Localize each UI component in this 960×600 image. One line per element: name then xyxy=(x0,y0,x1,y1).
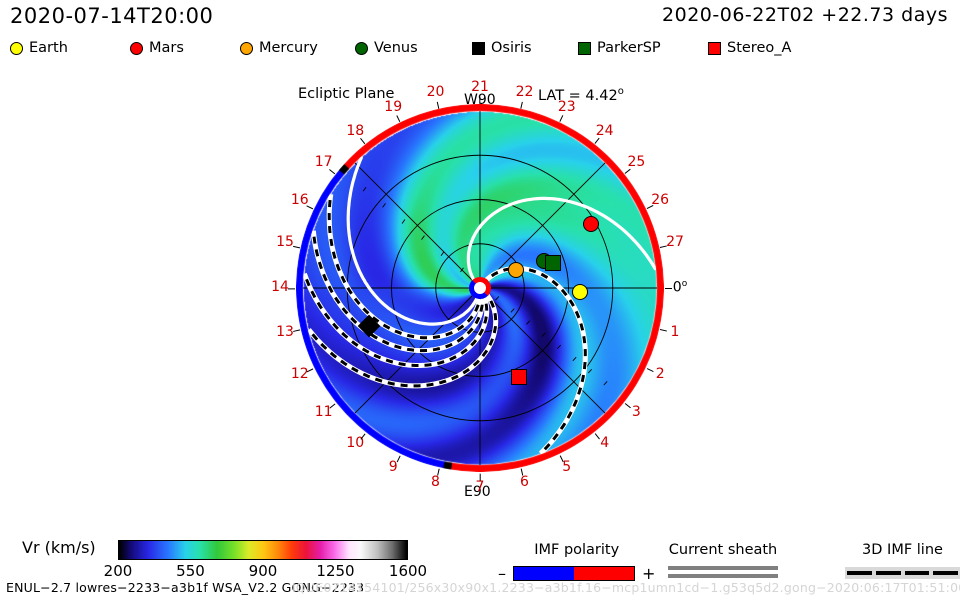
latitude-label: LAT = 4.42o xyxy=(538,86,624,104)
grid-spoke xyxy=(355,163,480,288)
legend-item-earth: Earth xyxy=(10,38,68,58)
longitude-tick-mark xyxy=(520,101,523,108)
degree-symbol: o xyxy=(682,279,688,289)
legend-item-mars: Mars xyxy=(130,38,184,58)
imf-dash xyxy=(876,571,901,575)
mars-circle-icon xyxy=(130,42,143,55)
current-sheath-title: Current sheath xyxy=(668,542,778,558)
legend-label: Earth xyxy=(29,40,68,56)
longitude-tick-6: 6 xyxy=(520,474,529,490)
negative-polarity-swatch xyxy=(514,567,574,580)
colorbar-tick: 200 xyxy=(104,562,133,580)
mesh-tick xyxy=(573,357,576,361)
parkersp-square-icon xyxy=(578,42,591,55)
velocity-colorbar xyxy=(118,540,408,560)
mesh-tick xyxy=(441,252,444,256)
legend-item-venus: Venus xyxy=(355,38,418,58)
longitude-tick-22: 22 xyxy=(516,84,534,100)
heliosphere-disc: 0o12345678910111213141516171819202122232… xyxy=(296,104,664,472)
stereo_a-square-icon xyxy=(708,42,721,55)
mercury-circle-icon xyxy=(240,42,253,55)
longitude-tick-12: 12 xyxy=(291,366,309,382)
longitude-tick-7: 7 xyxy=(476,479,485,495)
plane-label: Ecliptic Plane xyxy=(298,86,394,102)
longitude-tick-4: 4 xyxy=(600,435,609,451)
osiris-square-icon xyxy=(472,42,485,55)
imf-line-casing xyxy=(482,268,585,453)
longitude-tick-8: 8 xyxy=(431,474,440,490)
imf-line-dashed xyxy=(309,291,496,386)
longitude-tick-3: 3 xyxy=(632,404,641,420)
colorbar-title: Vr (km/s) xyxy=(22,538,96,557)
colorbar-tick: 550 xyxy=(176,562,205,580)
mesh-tick xyxy=(604,381,607,385)
longitude-tick-0: 0o xyxy=(673,279,687,296)
legend-label: Osiris xyxy=(491,40,532,56)
longitude-tick-mark xyxy=(660,329,667,332)
current-sheath-line-1 xyxy=(668,566,778,570)
longitude-tick-27: 27 xyxy=(666,234,684,250)
legend-label: Venus xyxy=(374,40,418,56)
imf-line-title: 3D IMF line xyxy=(845,542,960,558)
timestamp-run-start: 2020-06-22T02 +22.73 days xyxy=(662,4,948,26)
longitude-tick-14: 14 xyxy=(271,279,289,295)
mesh-tick xyxy=(383,203,386,207)
mesh-tick xyxy=(526,321,529,325)
current-sheath-line-2 xyxy=(668,574,778,578)
colorbar-tick: 900 xyxy=(249,562,278,580)
legend-item-mercury: Mercury xyxy=(240,38,318,58)
legend-item-stereo_a: Stereo_A xyxy=(708,38,791,58)
longitude-tick-1: 1 xyxy=(671,324,680,340)
legend-item-parkersp: ParkerSP xyxy=(578,38,661,58)
legend-item-osiris: Osiris xyxy=(472,38,532,58)
longitude-tick-18: 18 xyxy=(346,123,364,139)
imf-dash xyxy=(905,571,930,575)
longitude-tick-mark xyxy=(665,288,672,289)
longitude-tick-mark xyxy=(288,288,295,289)
plot-area: Ecliptic Plane LAT = 4.42o W90 E90 0o123… xyxy=(258,88,702,508)
mesh-tick xyxy=(511,309,514,313)
mesh-tick xyxy=(402,219,405,223)
imf-line-sample xyxy=(845,567,960,579)
longitude-tick-2: 2 xyxy=(656,366,665,382)
longitude-tick-26: 26 xyxy=(651,192,669,208)
run-watermark: IQUE0714154101/256x30x90x1.2233−a3b1f.16… xyxy=(292,580,960,595)
legend-label: ParkerSP xyxy=(597,40,661,56)
mesh-tick xyxy=(588,369,591,373)
marker-parkersp xyxy=(545,255,561,271)
mesh-tick xyxy=(495,296,498,300)
longitude-tick-13: 13 xyxy=(276,324,294,340)
longitude-tick-19: 19 xyxy=(384,99,402,115)
longitude-tick-15: 15 xyxy=(276,234,294,250)
timestamp-current: 2020-07-14T20:00 xyxy=(10,4,213,28)
marker-mars xyxy=(583,216,599,232)
imf-polarity-title: IMF polarity xyxy=(498,542,655,558)
colorbar-tick: 1250 xyxy=(316,562,354,580)
imf-dash xyxy=(847,571,872,575)
longitude-tick-21: 21 xyxy=(471,79,489,95)
current-sheath-spiral xyxy=(348,158,479,324)
positive-polarity-swatch xyxy=(574,567,634,580)
earth-circle-icon xyxy=(10,42,23,55)
current-sheath-legend: Current sheath xyxy=(668,542,778,578)
latitude-value: LAT = 4.42 xyxy=(538,88,618,104)
marker-stereo_a xyxy=(511,369,527,385)
longitude-tick-24: 24 xyxy=(596,123,614,139)
imf-polarity-bar xyxy=(513,566,635,581)
longitude-tick-mark xyxy=(293,329,300,332)
marker-sun xyxy=(469,277,491,299)
legend-label: Mercury xyxy=(259,40,318,56)
mesh-tick xyxy=(363,187,366,191)
longitude-tick-mark xyxy=(479,97,480,104)
mesh-tick xyxy=(557,345,560,349)
enlil-ecliptic-plot: 2020-07-14T20:00 2020-06-22T02 +22.73 da… xyxy=(0,0,960,600)
imf-polarity-legend: IMF polarity – + xyxy=(498,542,655,583)
mesh-tick xyxy=(542,333,545,337)
legend-label: Stereo_A xyxy=(727,40,791,56)
longitude-tick-20: 20 xyxy=(427,84,445,100)
colorbar-tick: 1600 xyxy=(389,562,427,580)
legend-label: Mars xyxy=(149,40,184,56)
object-legend: EarthMarsMercuryVenusOsirisParkerSPStere… xyxy=(10,38,950,60)
imf-line-legend: 3D IMF line xyxy=(845,542,960,579)
imf-dash xyxy=(933,571,958,575)
longitude-tick-mark xyxy=(520,469,523,476)
venus-circle-icon xyxy=(355,42,368,55)
degree-symbol: o xyxy=(618,86,624,97)
longitude-tick-mark xyxy=(437,101,440,108)
mesh-tick xyxy=(422,236,425,240)
longitude-tick-mark xyxy=(479,474,480,481)
longitude-tick-23: 23 xyxy=(558,99,576,115)
